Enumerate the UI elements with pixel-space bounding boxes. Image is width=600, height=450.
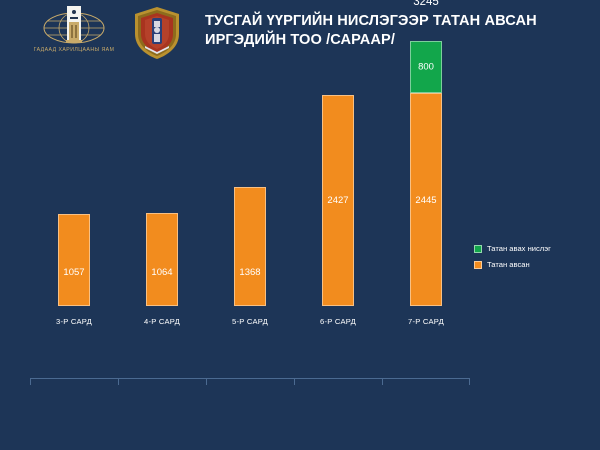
bar-value-label: 1368	[239, 268, 260, 278]
legend-item-taken[interactable]: Татан авсан	[474, 260, 592, 269]
bar-segment-taken[interactable]: 2445	[410, 93, 442, 306]
bar-segment-planned[interactable]: 800	[410, 41, 442, 93]
bar-segment-taken[interactable]: 1057	[58, 214, 90, 306]
bar-stack[interactable]: 1057	[58, 214, 90, 306]
x-axis-tick	[294, 378, 295, 385]
x-axis-tick	[118, 378, 119, 385]
bar-value-label: 800	[418, 62, 434, 72]
chart-legend: Татан авах нислэг Татан авсан	[474, 244, 592, 276]
bar-segment-taken[interactable]: 2427	[322, 95, 354, 306]
bar-group[interactable]: НИЙТ 3245 800 2445	[382, 26, 470, 306]
total-annotation: НИЙТ 3245	[382, 0, 470, 9]
bar-stack[interactable]: 1368	[234, 187, 266, 306]
bar-value-label: 2445	[415, 196, 436, 206]
slide-canvas: ГАДААД ХАРИЛЦААНЫ ЯАМ ТУСГАЙ ҮҮРГИЙН НИС…	[0, 0, 600, 450]
x-axis-tick	[382, 378, 383, 385]
bar-group[interactable]: 1368	[206, 26, 294, 306]
total-annotation-value: 3245	[382, 0, 470, 9]
legend-label: Татан авсан	[487, 260, 530, 269]
plot-area: 1057 3-Р САРД 1064 4-Р САРД 1368	[30, 98, 470, 398]
bar-stack[interactable]: 800 2445	[410, 41, 442, 306]
x-axis-tick	[30, 378, 31, 385]
bar-value-label: 2427	[327, 196, 348, 206]
x-axis-category-label: 5-Р САРД	[206, 317, 294, 326]
legend-label: Татан авах нислэг	[487, 244, 551, 253]
bar-chart: 1057 3-Р САРД 1064 4-Р САРД 1368	[0, 78, 600, 450]
bar-stack[interactable]: 2427	[322, 95, 354, 306]
x-axis-category-label: 4-Р САРД	[118, 317, 206, 326]
bar-segment-taken[interactable]: 1368	[234, 187, 266, 306]
x-axis-line	[30, 378, 470, 379]
bar-group[interactable]: 2427	[294, 26, 382, 306]
bar-value-label: 1064	[151, 268, 172, 278]
bar-segment-taken[interactable]: 1064	[146, 213, 178, 306]
legend-swatch-orange-icon	[474, 261, 482, 269]
x-axis-tick	[206, 378, 207, 385]
legend-swatch-green-icon	[474, 245, 482, 253]
x-axis-category-label: 6-Р САРД	[294, 317, 382, 326]
legend-item-planned[interactable]: Татан авах нислэг	[474, 244, 592, 253]
bar-stack[interactable]: 1064	[146, 213, 178, 306]
bar-group[interactable]: 1064	[118, 26, 206, 306]
x-axis-category-label: 3-Р САРД	[30, 317, 118, 326]
bar-group[interactable]: 1057	[30, 26, 118, 306]
x-axis-category-label: 7-Р САРД	[382, 317, 470, 326]
x-axis-tick	[469, 378, 470, 385]
bar-value-label: 1057	[63, 268, 84, 278]
